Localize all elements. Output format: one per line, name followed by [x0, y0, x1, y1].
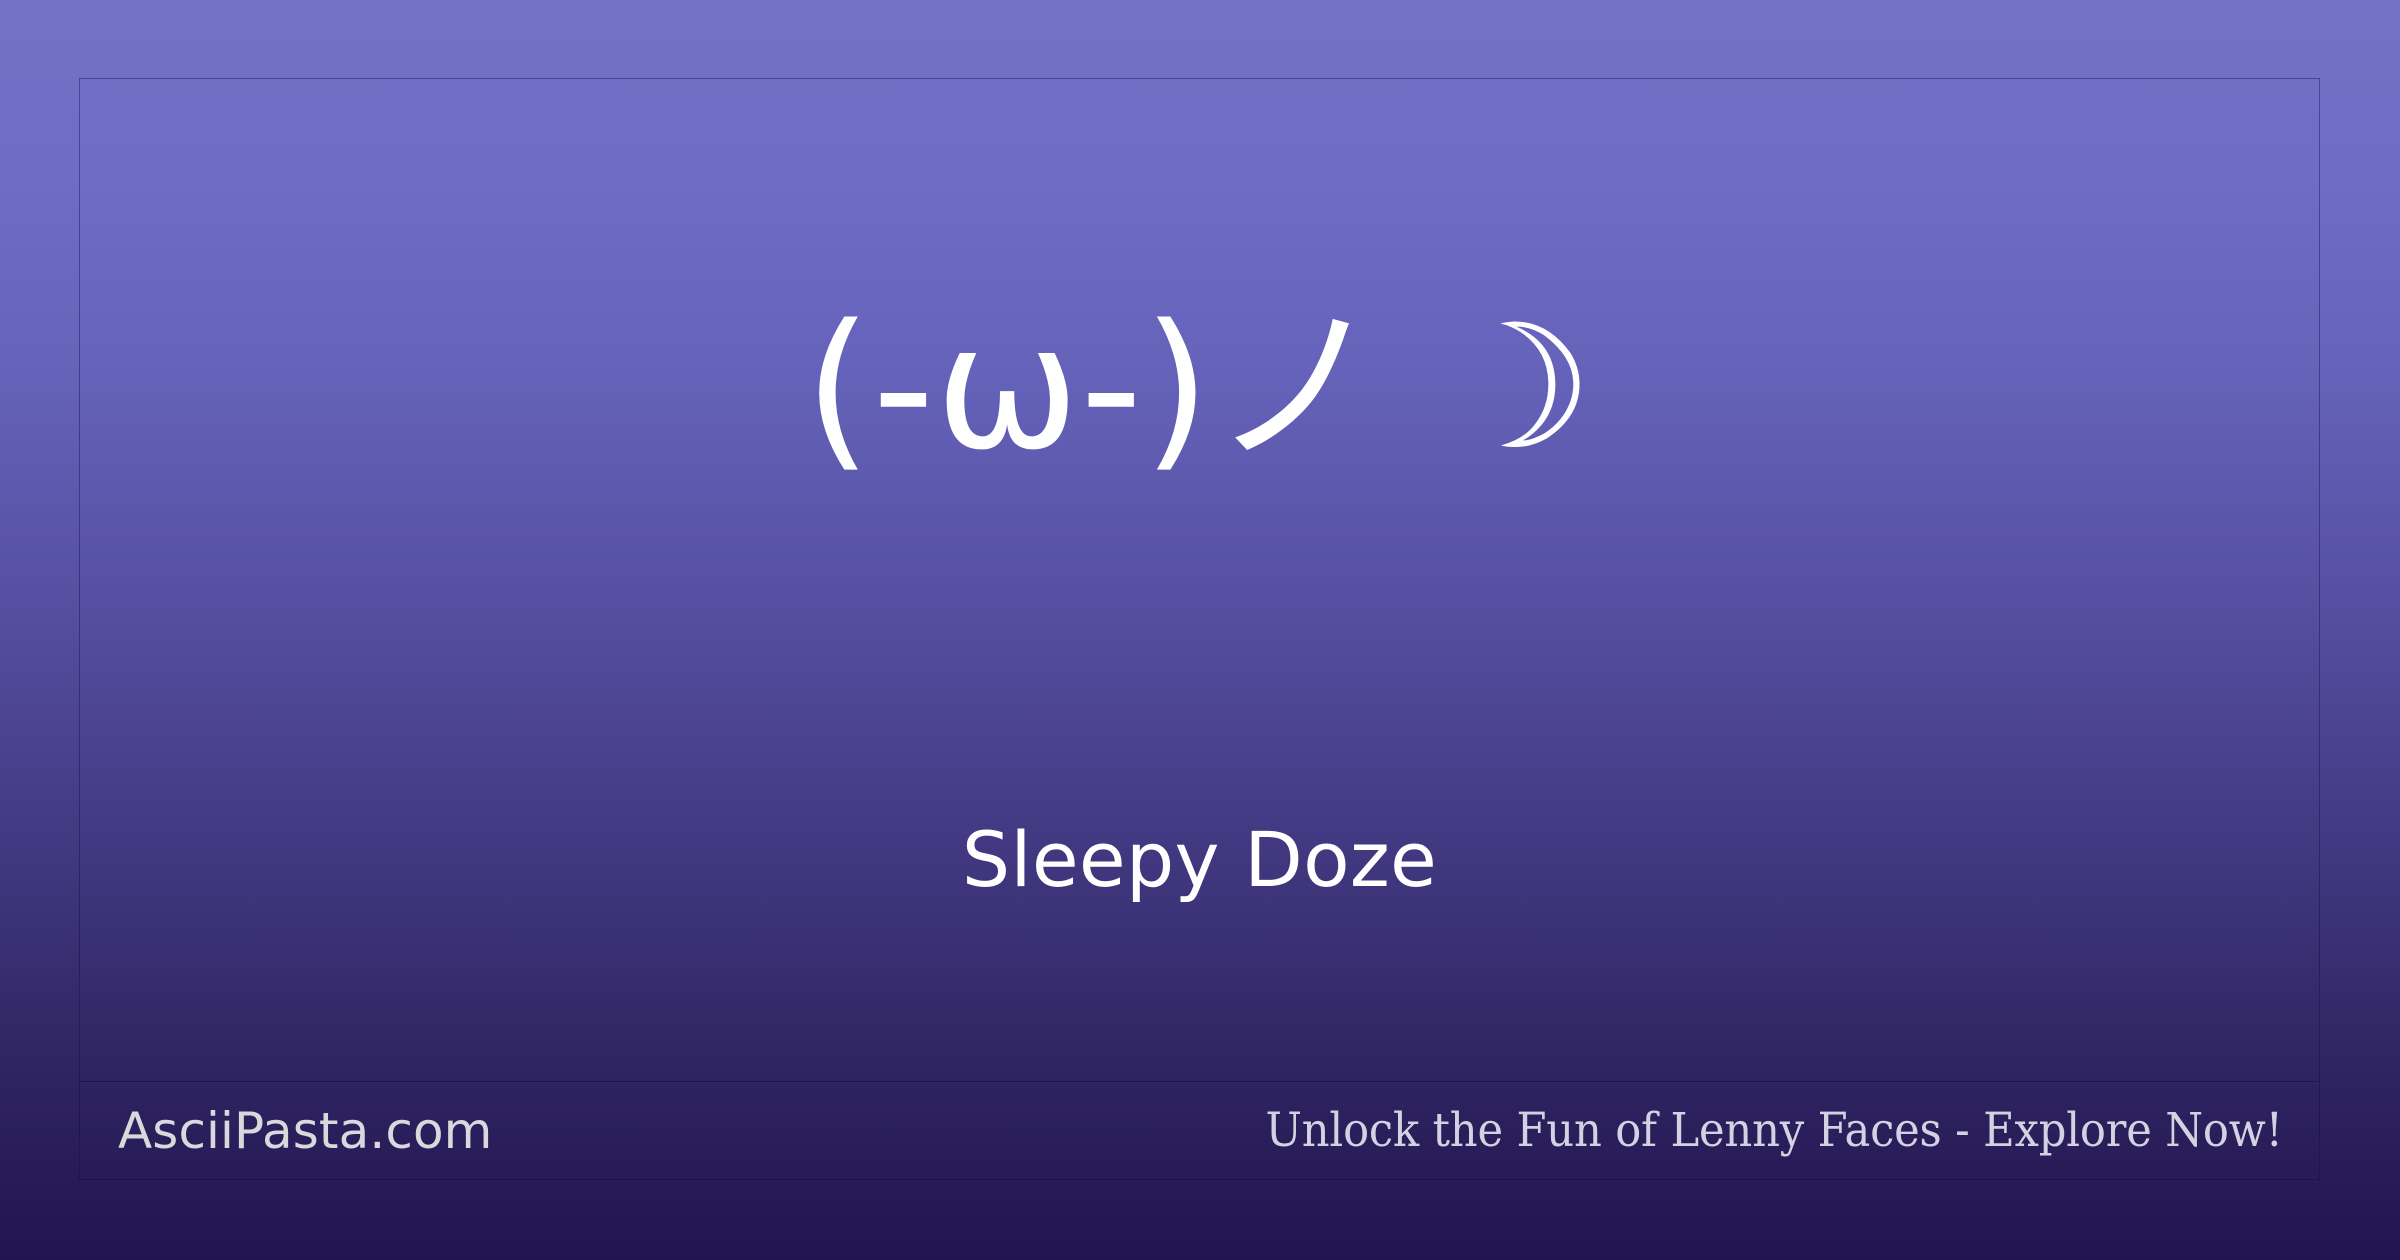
lenny-face-card-canvas: (-ω-)ノ ☽ Sleepy Doze AsciiPasta.com Unlo… [0, 0, 2400, 1260]
face-caption-title: Sleepy Doze [80, 817, 2319, 902]
footer-tagline[interactable]: Unlock the Fun of Lenny Faces - Explore … [1266, 1107, 2283, 1154]
ascii-emoticon-art[interactable]: (-ω-)ノ ☽ [80, 297, 2319, 479]
card-frame: (-ω-)ノ ☽ Sleepy Doze AsciiPasta.com Unlo… [79, 78, 2320, 1180]
card-footer: AsciiPasta.com Unlock the Fun of Lenny F… [80, 1081, 2319, 1179]
card-body: (-ω-)ノ ☽ Sleepy Doze [80, 79, 2319, 1081]
brand-name-asciipasta[interactable]: AsciiPasta.com [118, 1106, 492, 1156]
